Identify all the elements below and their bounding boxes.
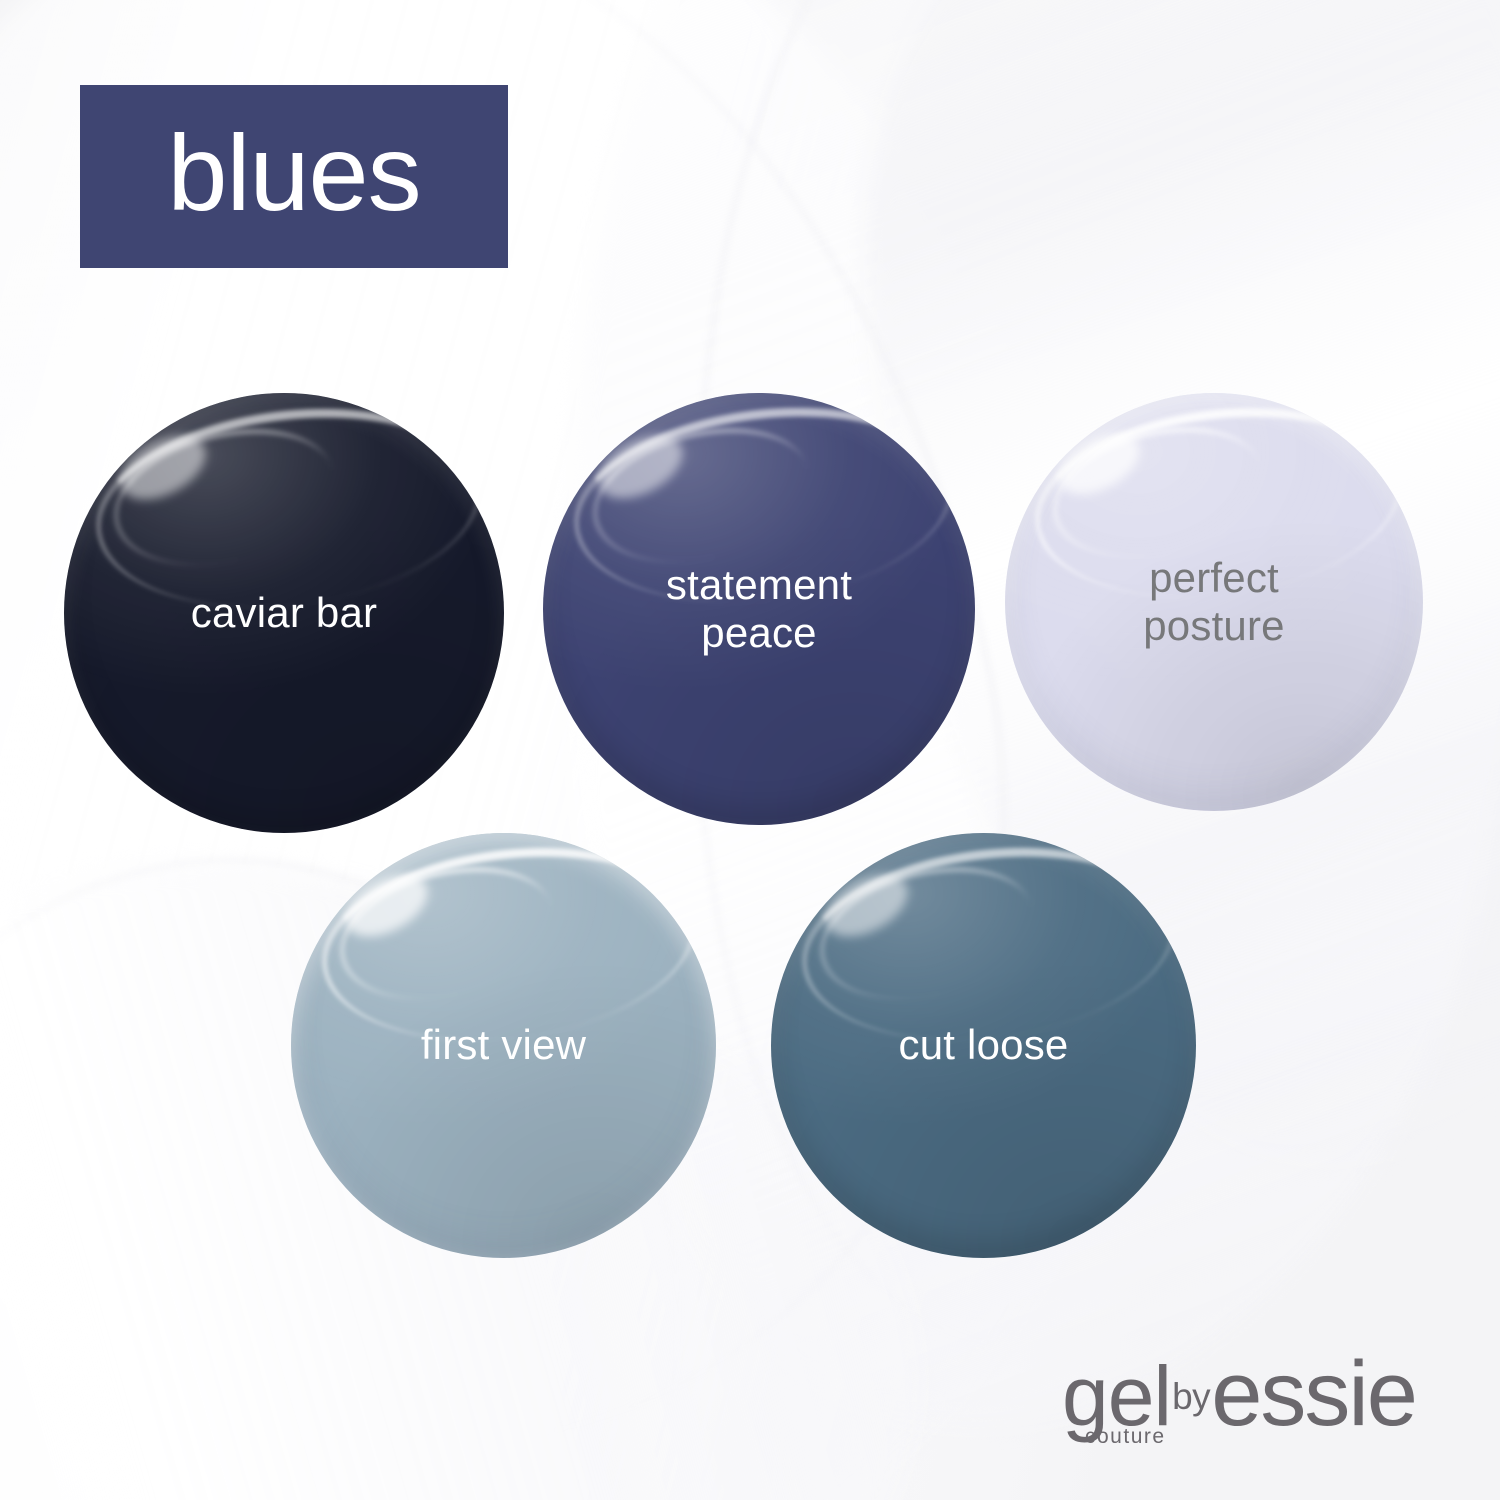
swatch-first-view[interactable]: first view <box>291 833 716 1258</box>
swatch-caviar-bar[interactable]: caviar bar <box>64 393 504 833</box>
brand-logo-essie: essie <box>1211 1348 1416 1440</box>
brand-logo-gel-group: gel couture <box>1062 1354 1171 1438</box>
swatch-perfect-posture[interactable]: perfect posture <box>1005 393 1423 811</box>
page-title: blues <box>167 119 420 227</box>
swatch-statement-peace[interactable]: statement peace <box>543 393 975 825</box>
swatch-label: cut loose <box>875 1021 1093 1069</box>
brand-logo-by: by <box>1172 1378 1210 1415</box>
swatch-label: perfect posture <box>1119 554 1309 651</box>
swatch-label: first view <box>397 1021 610 1069</box>
swatch-label: statement peace <box>642 561 876 658</box>
swatch-cut-loose[interactable]: cut loose <box>771 833 1196 1258</box>
swatch-label: caviar bar <box>167 589 401 637</box>
brand-logo-couture: couture <box>1085 1426 1166 1447</box>
brand-logo: gel couture by essie <box>1062 1348 1416 1440</box>
color-collection-poster: blues caviar bar statement peace perfect… <box>0 0 1500 1500</box>
collection-title-badge: blues <box>80 85 508 268</box>
